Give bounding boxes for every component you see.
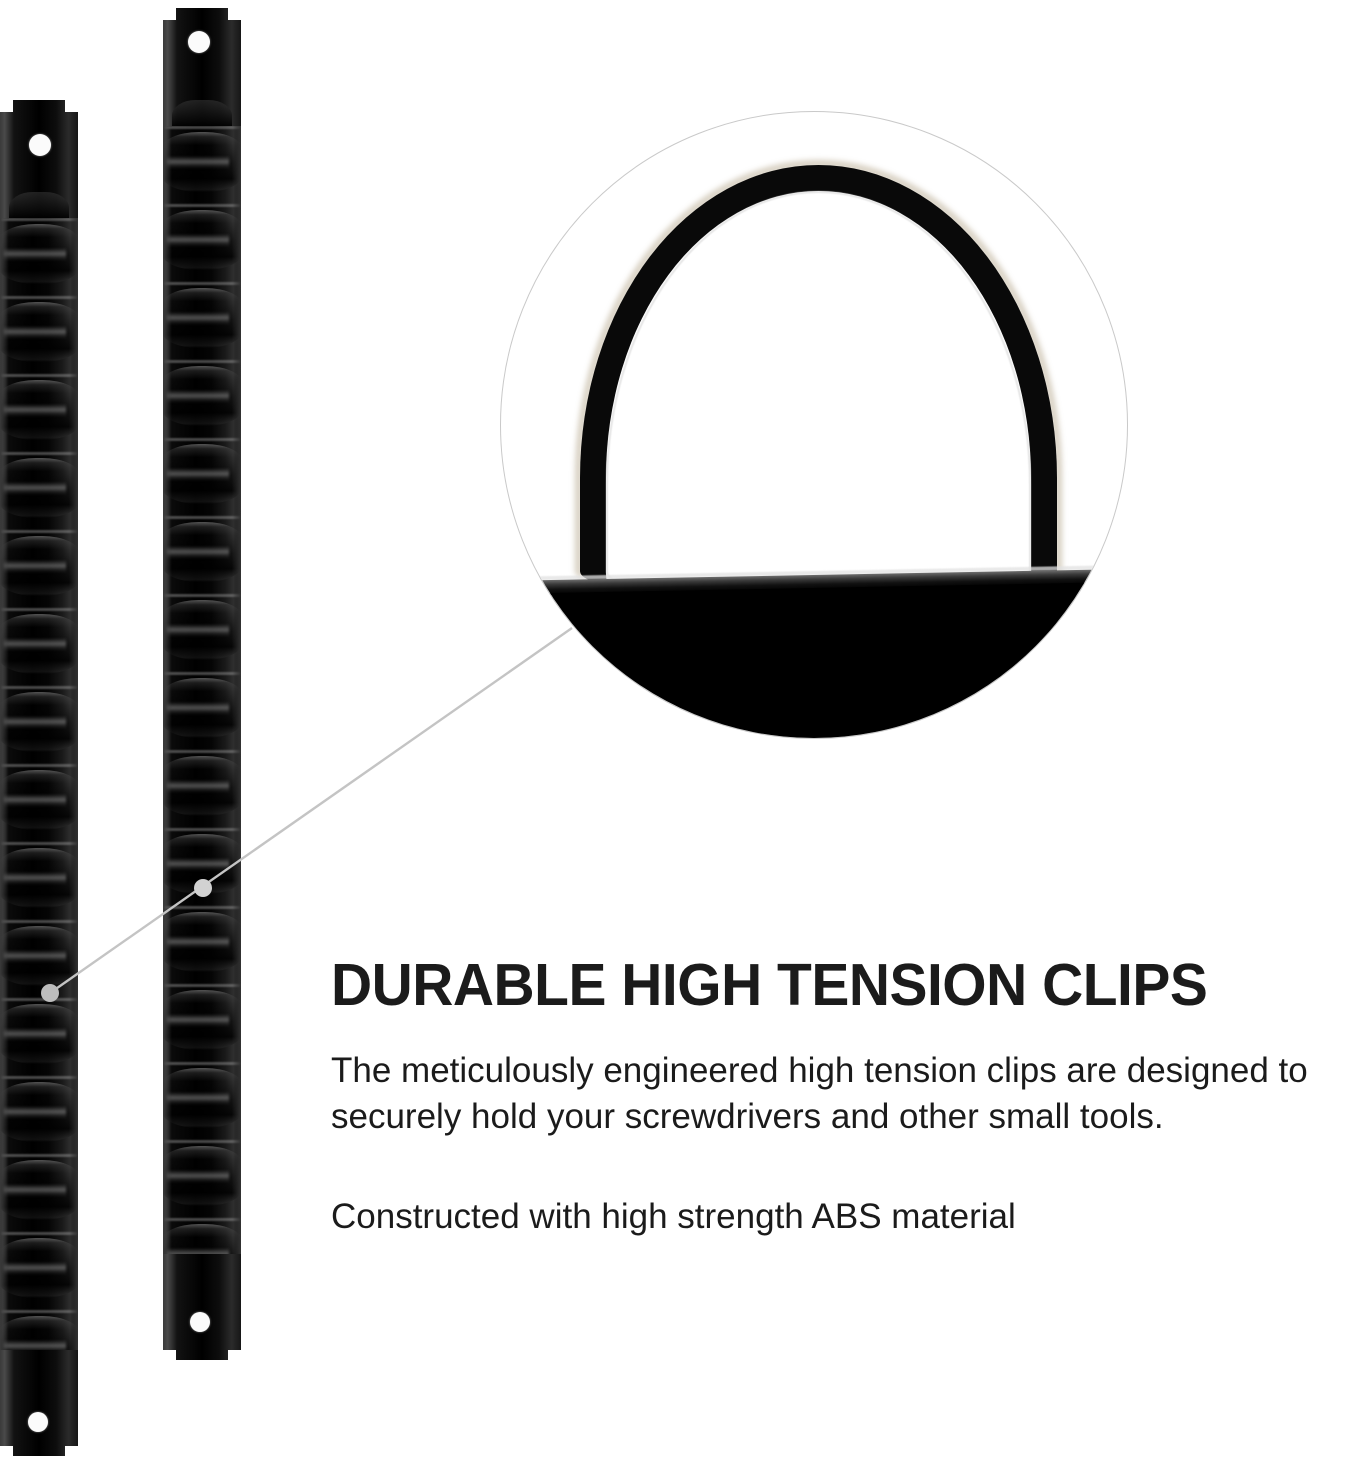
clip-groove <box>0 608 78 611</box>
clip-sheen <box>166 1092 228 1105</box>
clip-sheen <box>3 560 65 573</box>
clip-segment <box>163 984 241 1062</box>
clip-groove <box>163 1218 241 1221</box>
mount-notch-left <box>0 1446 13 1456</box>
clip-sheen <box>166 468 228 481</box>
mounting-hole <box>190 1312 210 1332</box>
clip-groove <box>163 126 241 129</box>
clip-sheen <box>166 1170 228 1183</box>
clip-sheen <box>3 638 65 651</box>
clip-segment <box>0 296 78 374</box>
mount-notch-right <box>228 1350 241 1360</box>
clip-segment <box>0 764 78 842</box>
rail-top-mount-plate <box>0 100 78 218</box>
clip-sheen <box>166 546 228 559</box>
clip-segment <box>0 374 78 452</box>
clip-sheen <box>3 404 65 417</box>
clip-groove <box>163 360 241 363</box>
clip-groove <box>0 998 78 1001</box>
mount-notch-right <box>228 8 241 20</box>
clip-segment <box>0 1232 78 1310</box>
clip-sheen <box>3 872 65 885</box>
clip-sheen <box>3 1106 65 1119</box>
leader-line-segment <box>50 628 572 993</box>
mount-neck <box>9 192 68 218</box>
mounting-hole <box>188 31 210 53</box>
product-feature-graphic: DURABLE HIGH TENSION CLIPS The meticulou… <box>0 0 1356 1461</box>
clip-segment <box>163 1062 241 1140</box>
clip-segment <box>163 828 241 906</box>
clip-segment <box>163 282 241 360</box>
clip-groove <box>163 1062 241 1065</box>
feature-text-block: DURABLE HIGH TENSION CLIPS The meticulou… <box>331 955 1353 1240</box>
mount-notch-left <box>163 8 176 20</box>
clip-segment <box>163 750 241 828</box>
clip-segment <box>0 842 78 920</box>
clip-segment <box>163 594 241 672</box>
mount-notch-left <box>163 1350 176 1360</box>
clip-groove <box>0 296 78 299</box>
clip-segment <box>0 686 78 764</box>
clip-groove <box>0 530 78 533</box>
clip-sheen <box>3 716 65 729</box>
screwdriver-rail-right <box>163 8 241 1360</box>
clip-groove <box>0 1076 78 1079</box>
rail-base-fill <box>500 581 1128 739</box>
clip-segment <box>0 218 78 296</box>
clip-sheen <box>166 858 228 871</box>
clip-segment <box>0 920 78 998</box>
clip-groove <box>0 218 78 221</box>
clip-segment <box>0 452 78 530</box>
clip-segment <box>163 516 241 594</box>
clip-sheen <box>3 950 65 963</box>
clip-groove <box>0 452 78 455</box>
clip-groove <box>0 374 78 377</box>
clip-sheen <box>166 156 228 169</box>
clip-groove <box>163 438 241 441</box>
clip-segment <box>0 608 78 686</box>
clip-sheen <box>166 1014 228 1027</box>
mount-notch-right <box>65 1446 78 1456</box>
clip-sheen <box>166 234 228 247</box>
clip-groove <box>0 842 78 845</box>
clip-groove <box>163 282 241 285</box>
page-title: DURABLE HIGH TENSION CLIPS <box>331 955 1317 1015</box>
clip-segment <box>163 204 241 282</box>
clip-groove <box>163 672 241 675</box>
clip-groove <box>0 1232 78 1235</box>
clip-segment <box>0 530 78 608</box>
rail-top-mount-plate <box>163 8 241 126</box>
clip-groove <box>0 1154 78 1157</box>
clip-sheen <box>3 326 65 339</box>
clip-sheen <box>3 482 65 495</box>
clip-groove <box>163 750 241 753</box>
mounting-hole <box>28 1412 48 1432</box>
clip-groove <box>163 594 241 597</box>
clip-segment <box>163 906 241 984</box>
clip-groove <box>163 828 241 831</box>
clip-groove <box>163 204 241 207</box>
rail-clip-segments <box>0 218 78 1350</box>
clip-groove <box>163 906 241 909</box>
clip-sheen <box>166 780 228 793</box>
feature-description: The meticulously engineered high tension… <box>331 1015 1351 1139</box>
rail-bottom-mount-plate <box>0 1350 78 1456</box>
clip-sheen <box>3 794 65 807</box>
clip-sheen <box>166 312 228 325</box>
clip-sheen <box>166 702 228 715</box>
clip-sheen <box>3 1028 65 1041</box>
rail-bottom-mount-plate <box>163 1254 241 1360</box>
clip-sheen <box>3 248 65 261</box>
clip-sheen <box>166 624 228 637</box>
clip-groove <box>163 516 241 519</box>
clip-sheen <box>3 1184 65 1197</box>
rail-clip-segments <box>163 126 241 1254</box>
clip-segment <box>0 1076 78 1154</box>
magnified-clip-detail <box>500 111 1128 739</box>
clip-groove <box>0 920 78 923</box>
clip-groove <box>0 1310 78 1313</box>
clip-groove <box>163 984 241 987</box>
clip-segment <box>163 672 241 750</box>
clip-segment <box>163 360 241 438</box>
clip-groove <box>0 764 78 767</box>
clip-groove <box>163 1140 241 1143</box>
mount-notch-right <box>65 100 78 112</box>
screwdriver-rail-left <box>0 100 78 1456</box>
clip-segment <box>0 1154 78 1232</box>
clip-sheen <box>3 1262 65 1275</box>
clip-segment <box>163 438 241 516</box>
mounting-hole <box>29 134 51 156</box>
clip-segment <box>163 1140 241 1218</box>
material-note: Constructed with high strength ABS mater… <box>331 1139 1353 1240</box>
clip-sheen <box>166 936 228 949</box>
mount-neck <box>172 100 231 126</box>
mount-notch-left <box>0 100 13 112</box>
clip-sheen <box>166 390 228 403</box>
clip-groove <box>0 686 78 689</box>
clip-segment <box>163 126 241 204</box>
clip-segment <box>0 998 78 1076</box>
